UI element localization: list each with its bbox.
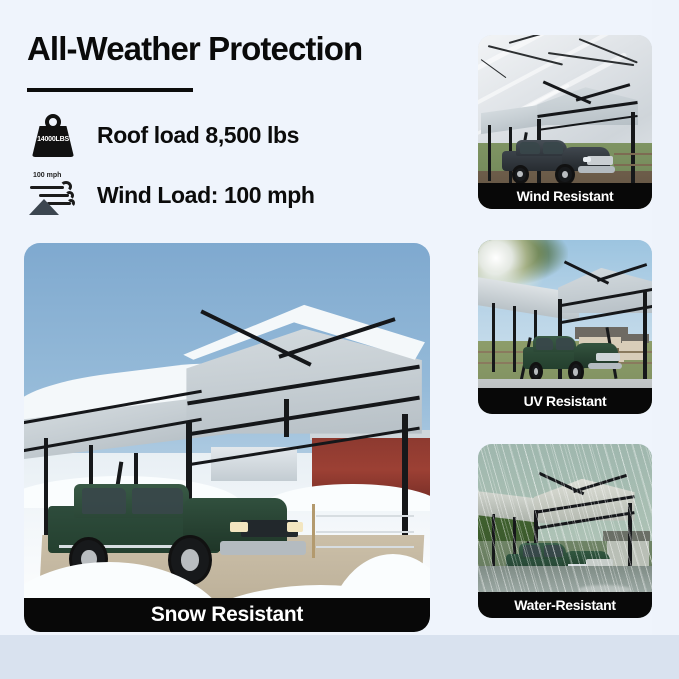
wind-icon-label: 100 mph (33, 172, 61, 179)
card-wind-resistant[interactable]: Wind Resistant (478, 35, 652, 209)
weight-icon: 14000LBS (27, 112, 79, 158)
page-title: All-Weather Protection (27, 30, 362, 68)
card-snow-resistant[interactable]: Snow Resistant (24, 243, 430, 632)
feature-wind-load: 100 mph Wind Load: 100 mph (27, 172, 315, 218)
feature-roof-load: 14000LBS Roof load 8,500 lbs (27, 112, 299, 158)
bottom-background-band (0, 635, 679, 679)
snow-photo (24, 243, 430, 632)
card-uv-resistant[interactable]: UV Resistant (478, 240, 652, 414)
wind-icon: 100 mph (27, 172, 79, 218)
card-water-resistant[interactable]: Water-Resistant (478, 444, 652, 618)
uv-caption: UV Resistant (478, 388, 652, 414)
feature-wind-load-label: Wind Load: 100 mph (97, 182, 315, 209)
snow-caption: Snow Resistant (24, 598, 430, 632)
feature-roof-load-label: Roof load 8,500 lbs (97, 122, 299, 149)
right-background-band (652, 0, 679, 679)
wind-caption: Wind Resistant (478, 183, 652, 209)
weight-icon-label: 14000LBS (27, 136, 79, 143)
water-caption: Water-Resistant (478, 592, 652, 618)
title-underline (27, 88, 193, 92)
